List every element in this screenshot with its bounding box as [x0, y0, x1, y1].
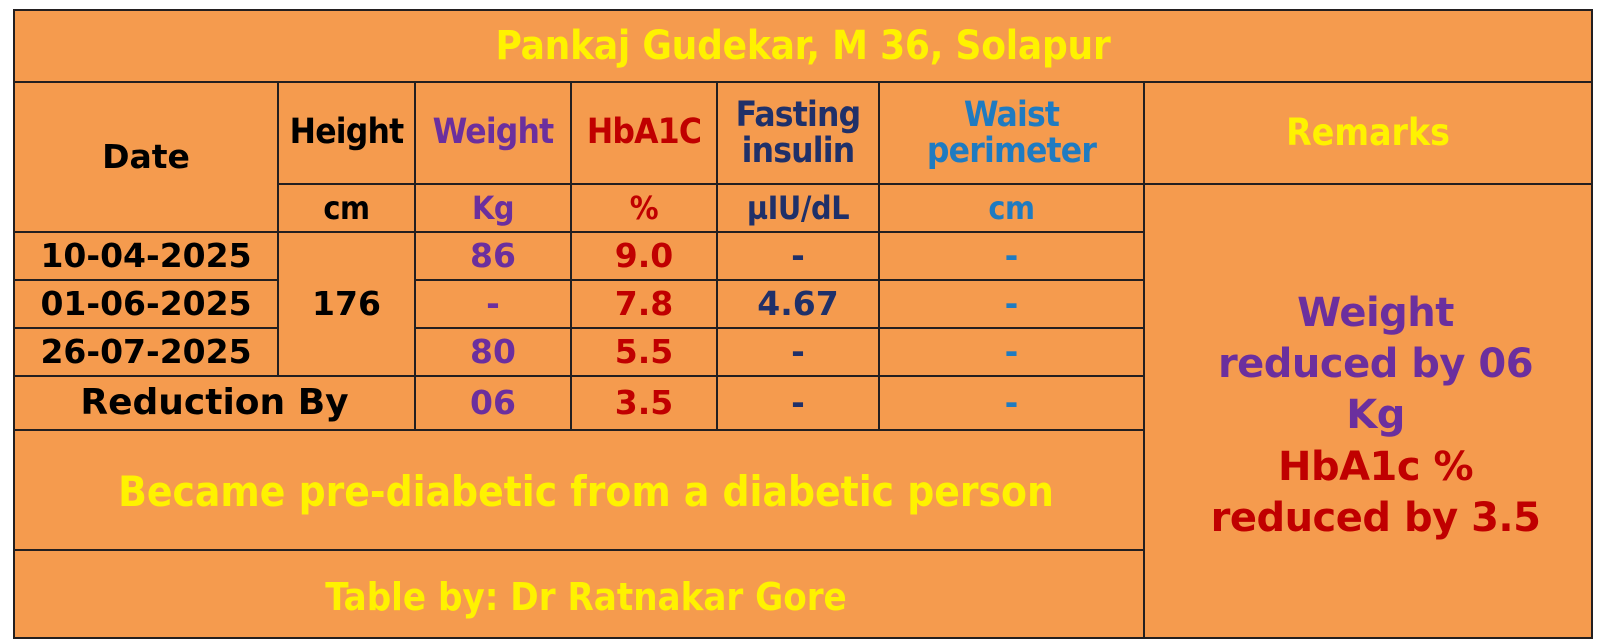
weight-header-label: Weight — [433, 112, 554, 152]
fasting-insulin-unit-cell: µIU/dL — [717, 184, 879, 232]
reduction-hba1c-cell: 3.5 — [571, 376, 717, 430]
remarks-line-4: HbA1c % — [1145, 442, 1591, 493]
fasting-insulin-cell: 4.67 — [717, 280, 879, 328]
remarks-header-label: Remarks — [1286, 111, 1450, 154]
credit-text: Table by: Dr Ratnakar Gore — [15, 567, 1143, 622]
hba1c-header-cell: HbA1C — [571, 82, 717, 184]
weight-cell: 86 — [415, 232, 571, 280]
height-unit-cell: cm — [278, 184, 415, 232]
reduction-waist-value: - — [1005, 383, 1019, 422]
weight-unit-label: Kg — [472, 189, 514, 227]
fasting-insulin-value: - — [791, 236, 805, 275]
waist-header-label: Waist perimeter — [927, 95, 1096, 171]
fasting-insulin-value: - — [791, 332, 805, 371]
waist-value: - — [1005, 332, 1019, 371]
date-value: 26-07-2025 — [40, 332, 251, 371]
fasting-insulin-header-label: Fasting insulin — [736, 95, 861, 171]
height-value: 176 — [312, 284, 381, 323]
reduction-fasting-insulin-value: - — [791, 383, 805, 422]
weight-value: 80 — [470, 332, 516, 371]
hba1c-header-label: HbA1C — [587, 112, 701, 152]
date-value: 10-04-2025 — [40, 236, 251, 275]
page-title: Pankaj Gudekar, M 36, Solapur — [496, 23, 1111, 69]
reduction-label-cell: Reduction By — [14, 376, 415, 430]
weight-cell: 80 — [415, 328, 571, 376]
hba1c-cell: 9.0 — [571, 232, 717, 280]
hba1c-unit-label: % — [630, 189, 658, 227]
reduction-hba1c-value: 3.5 — [615, 383, 673, 422]
weight-cell: - — [415, 280, 571, 328]
reduction-label: Reduction By — [80, 382, 348, 423]
waist-cell: - — [879, 328, 1144, 376]
header-row-measures: Date Height Weight HbA1C Fasting insulin… — [14, 82, 1592, 184]
data-grid: Pankaj Gudekar, M 36, Solapur Date Heigh… — [13, 9, 1593, 639]
hba1c-value: 9.0 — [615, 236, 673, 275]
height-unit-label: cm — [323, 189, 369, 227]
remarks-line-3: Kg — [1145, 390, 1591, 441]
fasting-insulin-cell: - — [717, 232, 879, 280]
conclusion-text: Became pre-diabetic from a diabetic pers… — [15, 461, 1143, 519]
credit-cell: Table by: Dr Ratnakar Gore — [14, 550, 1144, 638]
height-header-label: Height — [290, 112, 404, 152]
hba1c-cell: 5.5 — [571, 328, 717, 376]
reduction-fasting-insulin-cell: - — [717, 376, 879, 430]
remarks-header-cell: Remarks — [1144, 82, 1592, 184]
fasting-insulin-unit-label: µIU/dL — [747, 189, 849, 227]
reduction-weight-value: 06 — [470, 383, 516, 422]
waist-cell: - — [879, 232, 1144, 280]
date-header-cell: Date — [14, 82, 278, 232]
hba1c-cell: 7.8 — [571, 280, 717, 328]
remarks-line-1: Weight — [1145, 278, 1591, 339]
fasting-insulin-cell: - — [717, 328, 879, 376]
hba1c-value: 5.5 — [615, 332, 673, 371]
waist-cell: - — [879, 280, 1144, 328]
reduction-waist-cell: - — [879, 376, 1144, 430]
weight-value: - — [486, 284, 500, 323]
reduction-weight-cell: 06 — [415, 376, 571, 430]
hba1c-unit-cell: % — [571, 184, 717, 232]
height-value-cell: 176 — [278, 232, 415, 376]
waist-value: - — [1005, 284, 1019, 323]
weight-unit-cell: Kg — [415, 184, 571, 232]
waist-unit-cell: cm — [879, 184, 1144, 232]
remarks-body-cell: Weight reduced by 06 Kg HbA1c % reduced … — [1144, 184, 1592, 638]
conclusion-cell: Became pre-diabetic from a diabetic pers… — [14, 430, 1144, 550]
weight-value: 86 — [470, 236, 516, 275]
height-header-cell: Height — [278, 82, 415, 184]
row-date: 26-07-2025 — [14, 328, 278, 376]
fasting-insulin-value: 4.67 — [757, 284, 838, 323]
waist-unit-label: cm — [988, 189, 1034, 227]
remarks-line-5: reduced by 3.5 — [1145, 493, 1591, 544]
waist-value: - — [1005, 236, 1019, 275]
fasting-insulin-header-cell: Fasting insulin — [717, 82, 879, 184]
patient-progress-table: Pankaj Gudekar, M 36, Solapur Date Heigh… — [13, 9, 1591, 619]
date-value: 01-06-2025 — [40, 284, 251, 323]
waist-header-cell: Waist perimeter — [879, 82, 1144, 184]
title-row: Pankaj Gudekar, M 36, Solapur — [14, 10, 1592, 82]
row-date: 01-06-2025 — [14, 280, 278, 328]
weight-header-cell: Weight — [415, 82, 571, 184]
row-date: 10-04-2025 — [14, 232, 278, 280]
date-header-label: Date — [102, 137, 190, 176]
remarks-line-2: reduced by 06 — [1145, 339, 1591, 390]
title-cell: Pankaj Gudekar, M 36, Solapur — [14, 10, 1592, 82]
hba1c-value: 7.8 — [615, 284, 673, 323]
